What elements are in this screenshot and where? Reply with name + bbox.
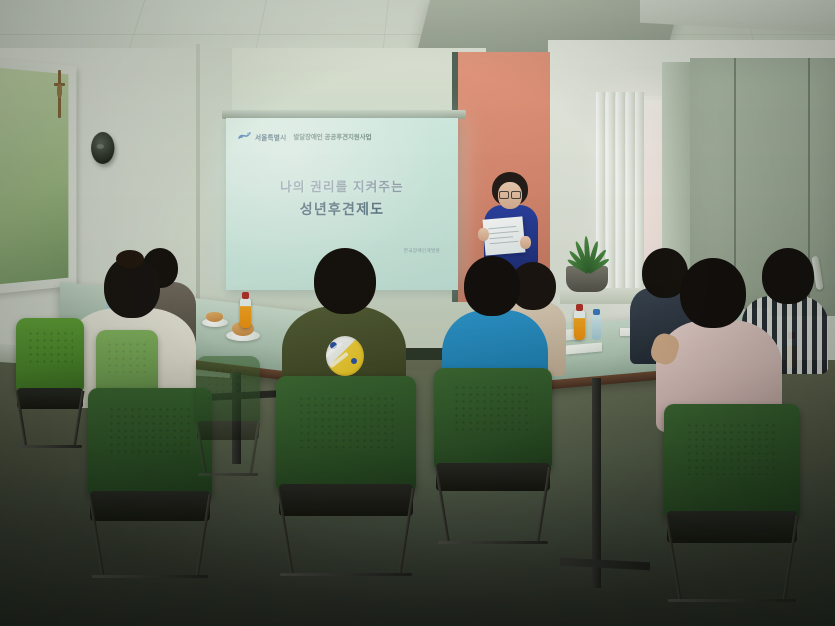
chair[interactable]: [88, 388, 212, 578]
attendee-head: [314, 248, 376, 314]
wall-clock: [91, 132, 114, 165]
chair[interactable]: [434, 368, 552, 544]
table-leg: [592, 378, 601, 588]
slide-title-line1: 나의 권리를 지켜주는: [226, 176, 458, 195]
seoul-city-logo-icon: [238, 130, 251, 143]
hair-bun: [116, 250, 144, 268]
slide-title-block: 나의 권리를 지켜주는 성년후견제도: [226, 176, 458, 219]
chair[interactable]: [196, 356, 260, 476]
slide-credit: 한국장애인개발원: [404, 248, 440, 254]
attendee-head: [464, 256, 520, 316]
water-bottle: [592, 314, 601, 340]
presenter-handout: [483, 216, 526, 255]
slide-brand-row: 서울특별시 발달장애인 공공후견지원사업: [238, 130, 372, 143]
shirt-logo-icon: [326, 336, 364, 376]
plant-leaves-icon: [562, 232, 616, 272]
slide-org-name: 서울특별시: [255, 132, 286, 142]
slide-program-name: 발달장애인 공공후견지원사업: [293, 132, 371, 141]
pastry: [206, 312, 223, 322]
chair[interactable]: [16, 318, 84, 448]
chair[interactable]: [276, 376, 416, 576]
juice-bottle: [574, 310, 585, 340]
crucifix-icon: [54, 70, 65, 118]
attendee-head: [680, 258, 746, 328]
attendee-pink-tee: [656, 258, 782, 426]
slide-title-line2: 성년후견제도: [226, 199, 458, 219]
presenter-hand: [478, 228, 489, 241]
glasses-icon: [499, 191, 521, 197]
juice-bottle: [240, 298, 251, 328]
photograph: 서울특별시 발달장애인 공공후견지원사업 나의 권리를 지켜주는 성년후견제도 …: [0, 0, 835, 626]
presenter-hand: [520, 236, 531, 249]
chair[interactable]: [664, 404, 800, 602]
